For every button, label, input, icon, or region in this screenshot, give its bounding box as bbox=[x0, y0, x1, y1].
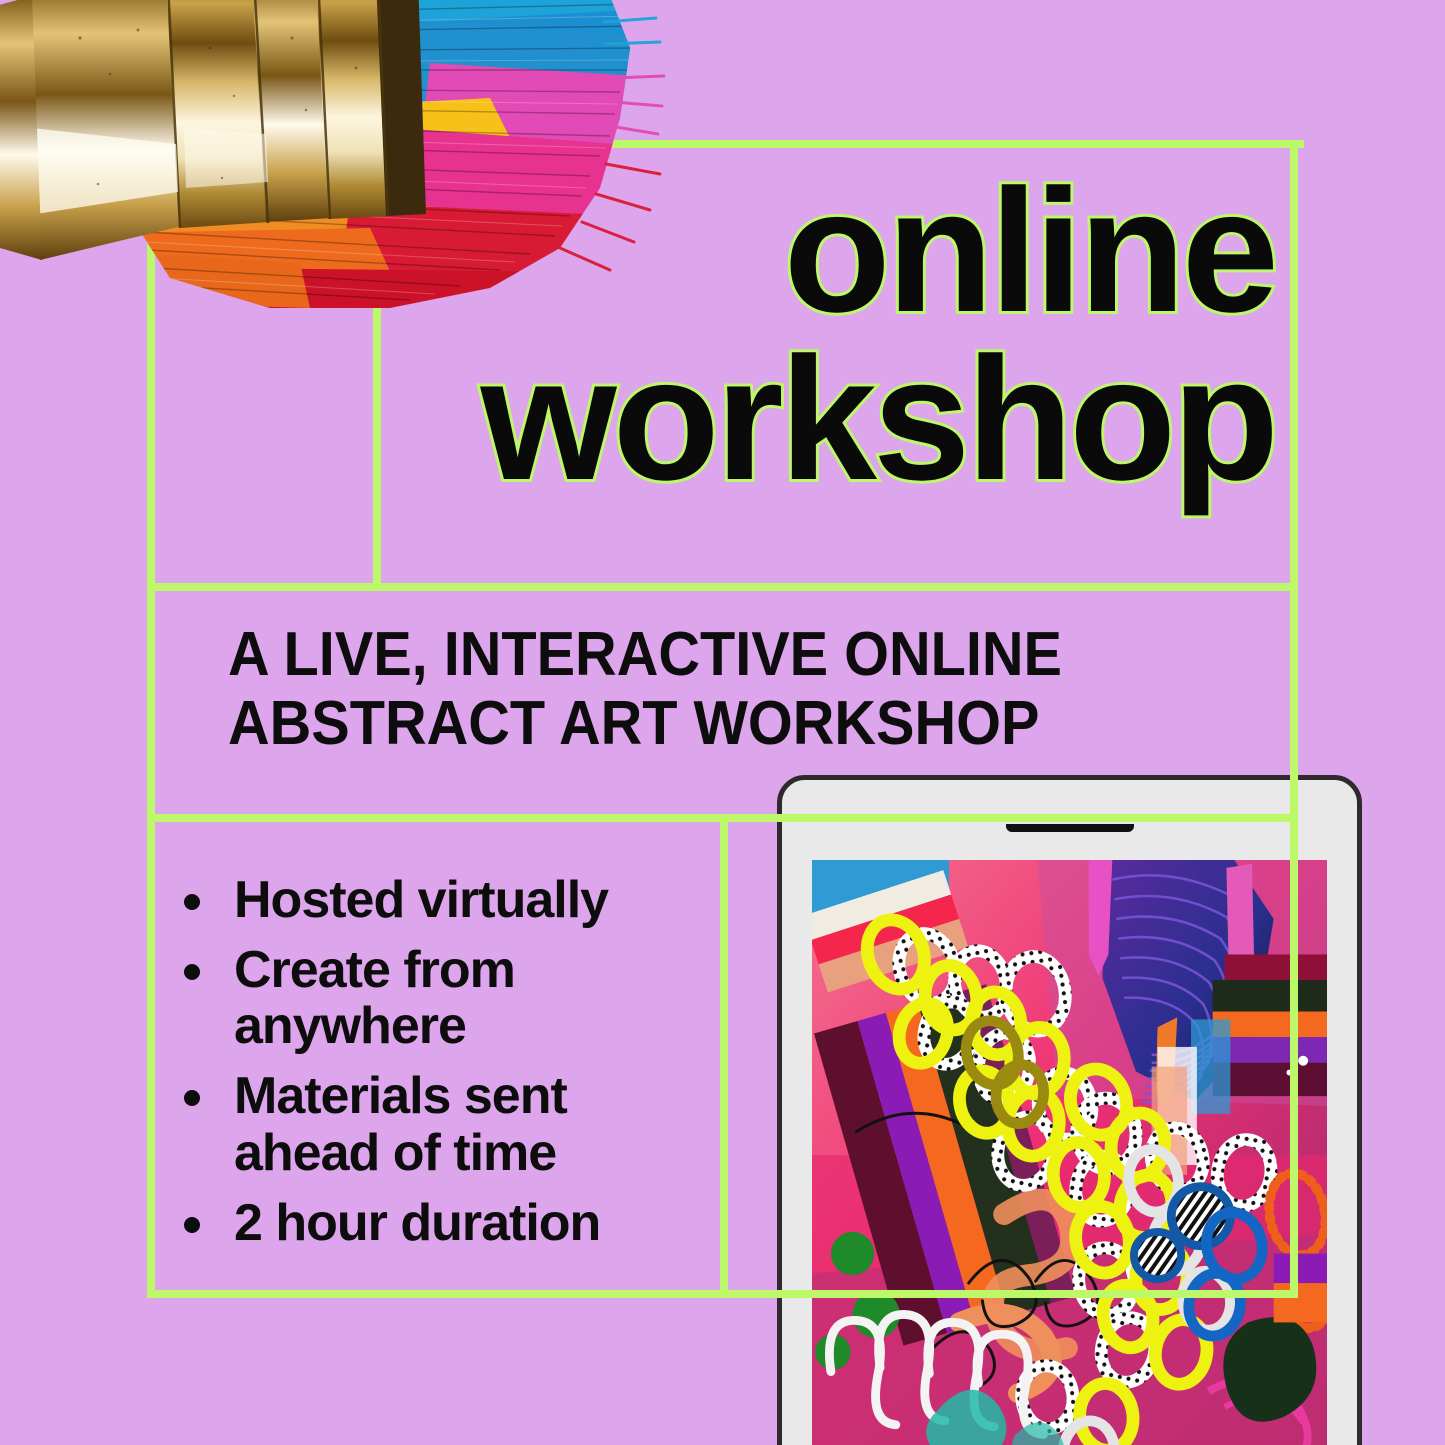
grid-line-top-horizontal bbox=[147, 140, 1304, 148]
tablet-device-icon bbox=[777, 775, 1362, 1445]
headline-line-1: online bbox=[0, 168, 1275, 336]
feature-list: Hosted virtually Create from anywhere Ma… bbox=[178, 872, 718, 1265]
feature-label: Create from anywhere bbox=[234, 941, 515, 1055]
list-item: 2 hour duration bbox=[178, 1195, 718, 1251]
feature-label: 2 hour duration bbox=[234, 1194, 600, 1252]
poster-canvas: online workshop A LIVE, INTERACTIVE ONLI… bbox=[0, 0, 1445, 1445]
page-title: online workshop bbox=[0, 168, 1275, 504]
grid-line-bottom-horizontal bbox=[147, 1290, 1298, 1298]
grid-line-subtitle-top bbox=[147, 583, 1298, 591]
subtitle: A LIVE, INTERACTIVE ONLINE ABSTRACT ART … bbox=[228, 620, 1158, 759]
list-item: Materials sent ahead of time bbox=[178, 1068, 718, 1180]
tablet-speaker-icon bbox=[1006, 824, 1134, 832]
list-item: Create from anywhere bbox=[178, 942, 718, 1054]
feature-label: Materials sent ahead of time bbox=[234, 1067, 567, 1181]
feature-label: Hosted virtually bbox=[234, 871, 608, 929]
subtitle-line-1: A LIVE, INTERACTIVE ONLINE bbox=[228, 620, 1158, 689]
grid-line-right-vertical bbox=[1290, 140, 1298, 1295]
headline-line-2: workshop bbox=[0, 336, 1275, 504]
subtitle-line-2: ABSTRACT ART WORKSHOP bbox=[228, 689, 1158, 758]
abstract-artwork-icon bbox=[812, 860, 1327, 1445]
grid-line-bullets-right-vertical bbox=[720, 814, 728, 1298]
list-item: Hosted virtually bbox=[178, 872, 718, 928]
